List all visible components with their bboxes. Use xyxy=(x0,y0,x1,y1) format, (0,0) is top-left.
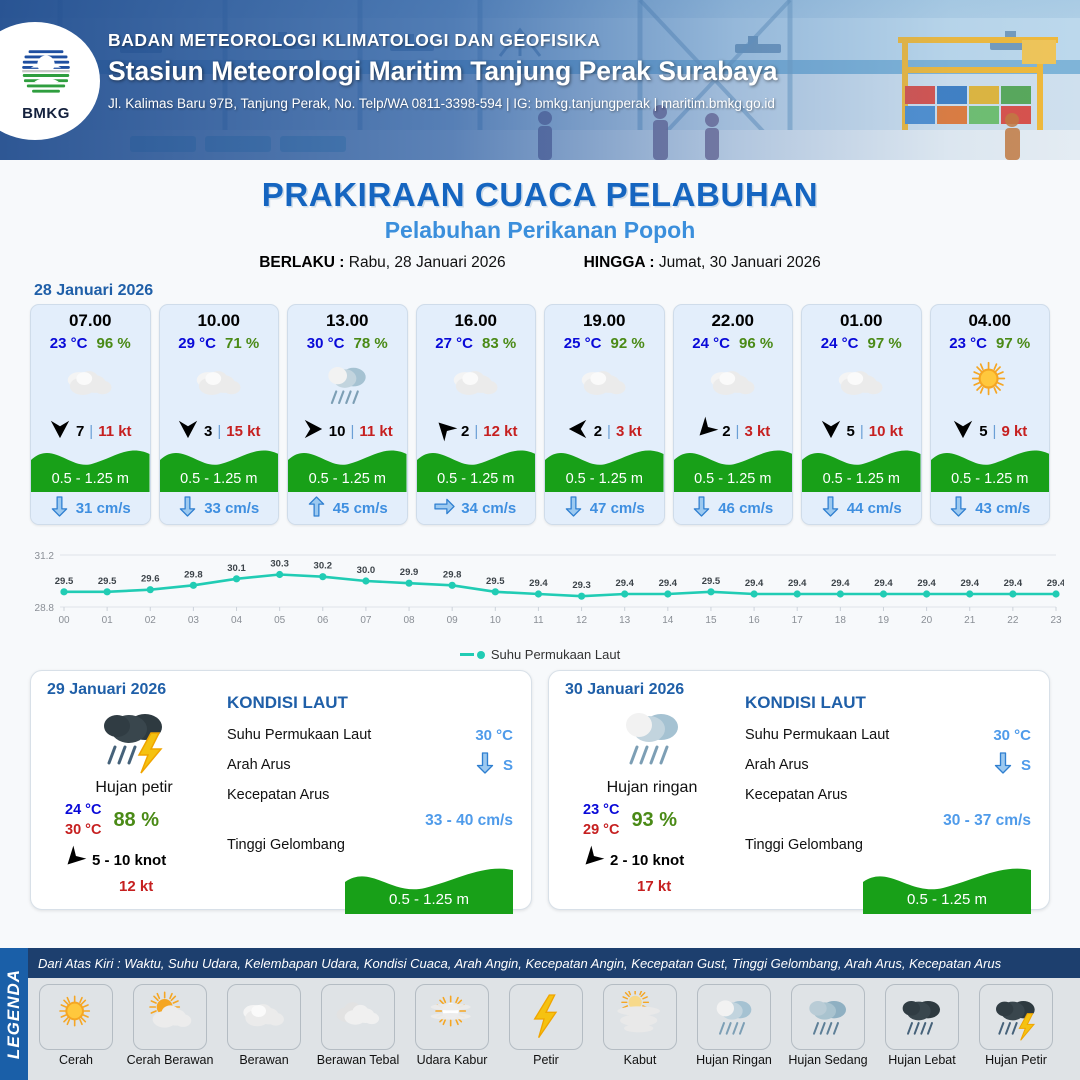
card-current-row: 45 cm/s xyxy=(288,492,407,524)
card-current-row: 34 cm/s xyxy=(417,492,536,524)
legend-item: Berawan xyxy=(220,984,308,1067)
sst-chart-svg: 31.228.829.50029.50129.60229.80330.10430… xyxy=(16,533,1064,645)
svg-text:11: 11 xyxy=(533,615,544,626)
card-wind-speed: 12 kt xyxy=(483,423,517,440)
daily-wave-block: 0.5 - 1.25 m xyxy=(863,862,1031,914)
hingga-value: Jumat, 30 Januari 2026 xyxy=(659,254,821,271)
sea-row-value: 33 - 40 cm/s xyxy=(227,812,513,830)
hingga-label: HINGGA : xyxy=(584,254,655,271)
card-wind-row: 3 | 15 kt xyxy=(160,420,279,442)
card-current-row: 47 cm/s xyxy=(545,492,664,524)
svg-text:29.4: 29.4 xyxy=(917,578,936,589)
berawan-icon xyxy=(417,354,536,416)
page-subtitle: Pelabuhan Perikanan Popoh xyxy=(0,217,1080,244)
card-current-row: 43 cm/s xyxy=(931,492,1050,524)
svg-text:29.4: 29.4 xyxy=(874,578,893,589)
svg-text:03: 03 xyxy=(188,615,200,626)
hourly-card: 19.00 25 °C 92 % 2 | 3 kt 0.5 - 1.25 m xyxy=(544,304,665,525)
card-time: 16.00 xyxy=(417,305,536,331)
card-temp-humidity: 23 °C 96 % xyxy=(31,335,150,352)
card-humidity: 97 % xyxy=(996,335,1030,352)
svg-text:17: 17 xyxy=(792,615,804,626)
hujan-ringan-icon xyxy=(565,701,739,775)
card-wind-row: 2 | 3 kt xyxy=(674,420,793,442)
card-wind-speed: 11 kt xyxy=(98,423,131,440)
legend-item: Udara Kabur xyxy=(408,984,496,1067)
card-wave-height: 0.5 - 1.25 m xyxy=(31,471,150,487)
sst-chart: 31.228.829.50029.50129.60229.80330.10430… xyxy=(16,533,1064,645)
legend-item-label: Udara Kabur xyxy=(408,1053,496,1067)
svg-text:29.4: 29.4 xyxy=(831,578,850,589)
card-wind-separator: | xyxy=(350,423,354,440)
legend-item: Kabut xyxy=(596,984,684,1067)
wind-direction-arrow-icon xyxy=(434,418,456,444)
berawan-icon xyxy=(31,354,150,416)
svg-text:06: 06 xyxy=(317,615,329,626)
sea-row-sst: Suhu Permukaan Laut 30 °C xyxy=(745,720,1031,750)
legend-note: Dari Atas Kiri : Waktu, Suhu Udara, Kele… xyxy=(28,948,1080,978)
card-wind-row: 10 | 11 kt xyxy=(288,420,407,442)
card-wind-speed: 9 kt xyxy=(1001,423,1027,440)
card-temp-humidity: 24 °C 96 % xyxy=(674,335,793,352)
card-wind-row: 7 | 11 kt xyxy=(31,420,150,442)
wind-direction-arrow-icon xyxy=(820,418,842,444)
svg-text:10: 10 xyxy=(490,615,502,626)
wind-direction-arrow-icon xyxy=(302,418,324,444)
card-wind-direction: 10 xyxy=(329,423,346,440)
berawan-icon xyxy=(802,354,921,416)
card-temp-humidity: 23 °C 97 % xyxy=(931,335,1050,352)
current-direction-group: S xyxy=(993,751,1031,779)
daily-wind-row: 2 - 10 knot xyxy=(565,847,739,873)
card-current-speed: 34 cm/s xyxy=(461,500,516,517)
sea-row-label: Suhu Permukaan Laut xyxy=(227,727,371,743)
card-wind-row: 5 | 9 kt xyxy=(931,420,1050,442)
sea-row-wave: Tinggi Gelombang xyxy=(227,830,513,860)
card-current-speed: 33 cm/s xyxy=(204,500,259,517)
sea-row-value: S xyxy=(503,757,513,774)
card-wave-height: 0.5 - 1.25 m xyxy=(931,471,1050,487)
cerah-icon xyxy=(39,984,113,1050)
legend-item-label: Hujan Ringan xyxy=(690,1053,778,1067)
card-current-speed: 45 cm/s xyxy=(333,500,388,517)
wind-direction-arrow-icon xyxy=(695,418,717,444)
svg-text:04: 04 xyxy=(231,615,243,626)
current-direction-arrow-icon xyxy=(821,495,840,522)
legend-item-label: Hujan Sedang xyxy=(784,1053,872,1067)
petir-icon xyxy=(509,984,583,1050)
svg-text:29.4: 29.4 xyxy=(788,578,807,589)
sea-row-value: 0.5 - 1.25 m xyxy=(345,891,513,908)
card-wave-block: 0.5 - 1.25 m xyxy=(160,444,279,492)
sea-row-label: Tinggi Gelombang xyxy=(227,837,345,853)
validity-row: BERLAKU : Rabu, 28 Januari 2026 HINGGA :… xyxy=(0,254,1080,272)
daily-wind-row: 5 - 10 knot xyxy=(47,847,221,873)
sea-row-value: 30 - 37 cm/s xyxy=(745,812,1031,830)
daily-temp-min: 23 °C xyxy=(583,801,619,821)
berawan-icon xyxy=(227,984,301,1050)
card-wave-block: 0.5 - 1.25 m xyxy=(545,444,664,492)
berawan-icon xyxy=(545,354,664,416)
sea-row-label: Kecepatan Arus xyxy=(745,787,847,803)
card-wind-speed: 10 kt xyxy=(869,423,903,440)
daily-gust: 17 kt xyxy=(565,878,739,895)
legend-item: Petir xyxy=(502,984,590,1067)
card-time: 01.00 xyxy=(802,305,921,331)
sea-row-current-speed: Kecepatan Arus xyxy=(227,780,513,810)
svg-text:01: 01 xyxy=(102,615,114,626)
card-time: 07.00 xyxy=(31,305,150,331)
sea-row-label: Tinggi Gelombang xyxy=(745,837,863,853)
legend-item: Hujan Lebat xyxy=(878,984,966,1067)
svg-text:15: 15 xyxy=(705,615,717,626)
daily-temp-column: 24 °C 30 °C xyxy=(65,801,101,840)
card-wind-separator: | xyxy=(993,423,997,440)
hujan-petir-icon xyxy=(47,701,221,775)
card-wind-direction: 7 xyxy=(76,423,84,440)
sea-row-current-direction: Arah Arus S xyxy=(227,750,513,780)
header-text-block: BADAN METEOROLOGI KLIMATOLOGI DAN GEOFIS… xyxy=(108,30,778,111)
card-time: 22.00 xyxy=(674,305,793,331)
legend-side-label: LEGENDA xyxy=(4,969,24,1059)
svg-text:21: 21 xyxy=(964,615,976,626)
card-wind-direction: 3 xyxy=(204,423,212,440)
legend-item: Cerah Berawan xyxy=(126,984,214,1067)
berlaku-group: BERLAKU : Rabu, 28 Januari 2026 xyxy=(259,254,505,272)
card-wind-speed: 3 kt xyxy=(744,423,770,440)
svg-text:02: 02 xyxy=(145,615,157,626)
daily-humidity: 93 % xyxy=(631,809,677,832)
card-wind-separator: | xyxy=(89,423,93,440)
card-current-speed: 46 cm/s xyxy=(718,500,773,517)
sea-row-sst: Suhu Permukaan Laut 30 °C xyxy=(227,720,513,750)
svg-text:29.5: 29.5 xyxy=(486,576,505,587)
sea-condition-title: KONDISI LAUT xyxy=(745,693,1031,713)
card-time: 19.00 xyxy=(545,305,664,331)
daily-wave-block: 0.5 - 1.25 m xyxy=(345,862,513,914)
svg-text:29.5: 29.5 xyxy=(55,576,74,587)
current-direction-arrow-icon xyxy=(178,495,197,522)
card-air-temperature: 23 °C xyxy=(949,335,987,352)
svg-text:00: 00 xyxy=(58,615,70,626)
wind-direction-arrow-icon xyxy=(952,418,974,444)
svg-text:29.4: 29.4 xyxy=(529,578,548,589)
legend-item: Cerah xyxy=(32,984,120,1067)
svg-text:29.4: 29.4 xyxy=(1047,578,1064,589)
card-air-temperature: 30 °C xyxy=(307,335,345,352)
sea-row-value: 0.5 - 1.25 m xyxy=(863,891,1031,908)
card-air-temperature: 24 °C xyxy=(692,335,730,352)
sea-row-label: Suhu Permukaan Laut xyxy=(745,727,889,743)
svg-text:29.8: 29.8 xyxy=(443,569,462,580)
chart-legend-label: Suhu Permukaan Laut xyxy=(491,647,620,662)
card-wave-height: 0.5 - 1.25 m xyxy=(674,471,793,487)
card-time: 10.00 xyxy=(160,305,279,331)
daily-temp-min: 24 °C xyxy=(65,801,101,821)
daily-temp-max: 30 °C xyxy=(65,821,101,841)
card-air-temperature: 27 °C xyxy=(435,335,473,352)
daily-forecast-panels: 29 Januari 2026 Hujan petir 24 °C 30 °C … xyxy=(0,662,1080,910)
sea-condition-title: KONDISI LAUT xyxy=(227,693,513,713)
daily-condition: Hujan ringan xyxy=(565,779,739,797)
card-wave-block: 0.5 - 1.25 m xyxy=(802,444,921,492)
hourly-card: 07.00 23 °C 96 % 7 | 11 kt 0.5 - 1.25 m xyxy=(30,304,151,525)
legend-item-label: Cerah xyxy=(32,1053,120,1067)
svg-text:22: 22 xyxy=(1007,615,1019,626)
legend-item: Hujan Petir xyxy=(972,984,1060,1067)
sea-row-value: 30 °C xyxy=(993,727,1031,744)
hourly-card: 16.00 27 °C 83 % 2 | 12 kt 0.5 - 1.25 m xyxy=(416,304,537,525)
card-current-row: 33 cm/s xyxy=(160,492,279,524)
hourly-date-label: 28 Januari 2026 xyxy=(34,282,1080,300)
legend-dot-icon xyxy=(477,651,485,659)
svg-text:29.5: 29.5 xyxy=(702,576,721,587)
card-wind-separator: | xyxy=(736,423,740,440)
hourly-card: 10.00 29 °C 71 % 3 | 15 kt 0.5 - 1.25 m xyxy=(159,304,280,525)
hourly-card: 13.00 30 °C 78 % 10 | 11 kt 0.5 - 1.25 m xyxy=(287,304,408,525)
svg-text:31.2: 31.2 xyxy=(35,551,55,562)
daily-left-block: 29 Januari 2026 Hujan petir 24 °C 30 °C … xyxy=(31,671,221,909)
card-wind-direction: 2 xyxy=(461,423,469,440)
card-wind-direction: 2 xyxy=(594,423,602,440)
hujan-petir-icon xyxy=(979,984,1053,1050)
daily-condition: Hujan petir xyxy=(47,779,221,797)
svg-text:12: 12 xyxy=(576,615,588,626)
svg-text:13: 13 xyxy=(619,615,631,626)
sea-row-wave: Tinggi Gelombang xyxy=(745,830,1031,860)
svg-text:18: 18 xyxy=(835,615,847,626)
card-wave-block: 0.5 - 1.25 m xyxy=(417,444,536,492)
card-current-row: 31 cm/s xyxy=(31,492,150,524)
current-direction-arrow-icon xyxy=(692,495,711,522)
card-humidity: 96 % xyxy=(96,335,130,352)
card-current-speed: 44 cm/s xyxy=(847,500,902,517)
svg-text:30.3: 30.3 xyxy=(270,559,289,570)
daily-temp-column: 23 °C 29 °C xyxy=(583,801,619,840)
agency-name: BADAN METEOROLOGI KLIMATOLOGI DAN GEOFIS… xyxy=(108,30,778,51)
sea-row-value: S xyxy=(1021,757,1031,774)
svg-text:20: 20 xyxy=(921,615,933,626)
daily-wind-range: 5 - 10 knot xyxy=(92,852,166,869)
svg-text:29.4: 29.4 xyxy=(745,578,764,589)
svg-text:19: 19 xyxy=(878,615,890,626)
svg-text:29.5: 29.5 xyxy=(98,576,117,587)
bmkg-emblem-icon xyxy=(17,41,75,99)
card-wind-separator: | xyxy=(607,423,611,440)
daily-forecast-panel: 29 Januari 2026 Hujan petir 24 °C 30 °C … xyxy=(30,670,532,910)
svg-text:16: 16 xyxy=(749,615,761,626)
svg-text:29.4: 29.4 xyxy=(615,578,634,589)
hujan-ringan-icon xyxy=(288,354,407,416)
berawan-icon xyxy=(160,354,279,416)
card-wave-height: 0.5 - 1.25 m xyxy=(160,471,279,487)
berawan-tebal-icon xyxy=(321,984,395,1050)
card-humidity: 78 % xyxy=(353,335,387,352)
card-humidity: 97 % xyxy=(867,335,901,352)
card-wind-direction: 5 xyxy=(979,423,987,440)
card-wave-block: 0.5 - 1.25 m xyxy=(931,444,1050,492)
legend-item: Hujan Sedang xyxy=(784,984,872,1067)
daily-temp-humidity: 23 °C 29 °C 93 % xyxy=(565,801,739,840)
legend-line-icon xyxy=(460,653,474,656)
daily-date: 29 Januari 2026 xyxy=(47,681,221,699)
card-temp-humidity: 27 °C 83 % xyxy=(417,335,536,352)
card-wind-direction: 2 xyxy=(722,423,730,440)
sea-row-label: Arah Arus xyxy=(745,757,809,773)
hujan-ringan-icon xyxy=(697,984,771,1050)
card-air-temperature: 24 °C xyxy=(821,335,859,352)
svg-text:29.4: 29.4 xyxy=(1004,578,1023,589)
card-wind-row: 5 | 10 kt xyxy=(802,420,921,442)
card-air-temperature: 23 °C xyxy=(50,335,88,352)
svg-text:30.1: 30.1 xyxy=(227,563,246,574)
svg-text:14: 14 xyxy=(662,615,674,626)
legend-item-label: Cerah Berawan xyxy=(126,1053,214,1067)
berlaku-label: BERLAKU : xyxy=(259,254,344,271)
wind-direction-arrow-icon xyxy=(49,418,71,444)
card-wave-block: 0.5 - 1.25 m xyxy=(288,444,407,492)
card-temp-humidity: 25 °C 92 % xyxy=(545,335,664,352)
svg-text:07: 07 xyxy=(360,615,372,626)
daily-gust: 12 kt xyxy=(47,878,221,895)
legend-bar: LEGENDA Dari Atas Kiri : Waktu, Suhu Uda… xyxy=(0,948,1080,1080)
sea-row-label: Kecepatan Arus xyxy=(227,787,329,803)
card-air-temperature: 29 °C xyxy=(178,335,216,352)
wind-direction-arrow-icon xyxy=(63,847,85,873)
card-wave-height: 0.5 - 1.25 m xyxy=(802,471,921,487)
sea-row-value: 30 °C xyxy=(475,727,513,744)
card-current-speed: 47 cm/s xyxy=(590,500,645,517)
legend-icon-list: Cerah Cerah Berawan Berawan xyxy=(28,978,1080,1067)
daily-forecast-panel: 30 Januari 2026 Hujan ringan 23 °C 29 °C… xyxy=(548,670,1050,910)
card-wave-block: 0.5 - 1.25 m xyxy=(31,444,150,492)
card-wind-speed: 15 kt xyxy=(226,423,260,440)
current-direction-arrow-icon xyxy=(993,751,1013,779)
card-wave-height: 0.5 - 1.25 m xyxy=(417,471,536,487)
cerah-berawan-icon xyxy=(133,984,207,1050)
wind-direction-arrow-icon xyxy=(567,418,589,444)
card-humidity: 92 % xyxy=(610,335,644,352)
svg-text:05: 05 xyxy=(274,615,286,626)
current-direction-arrow-icon xyxy=(50,495,69,522)
card-humidity: 96 % xyxy=(739,335,773,352)
udara-kabur-icon xyxy=(415,984,489,1050)
daily-sea-block: KONDISI LAUT Suhu Permukaan Laut 30 °C A… xyxy=(221,671,531,909)
legend-item-label: Kabut xyxy=(596,1053,684,1067)
card-wave-block: 0.5 - 1.25 m xyxy=(674,444,793,492)
card-current-row: 44 cm/s xyxy=(802,492,921,524)
contact-info: Jl. Kalimas Baru 97B, Tanjung Perak, No.… xyxy=(108,96,778,111)
hourly-card: 01.00 24 °C 97 % 5 | 10 kt 0.5 - 1.25 m xyxy=(801,304,922,525)
svg-text:30.0: 30.0 xyxy=(357,565,376,576)
svg-text:29.4: 29.4 xyxy=(960,578,979,589)
hourly-card: 22.00 24 °C 96 % 2 | 3 kt 0.5 - 1.25 m xyxy=(673,304,794,525)
svg-text:29.9: 29.9 xyxy=(400,567,419,578)
daily-temp-max: 29 °C xyxy=(583,821,619,841)
card-air-temperature: 25 °C xyxy=(564,335,602,352)
svg-text:23: 23 xyxy=(1050,615,1062,626)
legend-item-label: Berawan xyxy=(220,1053,308,1067)
card-temp-humidity: 30 °C 78 % xyxy=(288,335,407,352)
kabut-icon xyxy=(603,984,677,1050)
current-direction-arrow-icon xyxy=(307,495,326,522)
hourly-forecast-cards: 07.00 23 °C 96 % 7 | 11 kt 0.5 - 1.25 m xyxy=(0,304,1080,525)
wind-direction-arrow-icon xyxy=(177,418,199,444)
current-direction-arrow-icon xyxy=(435,495,454,522)
card-wind-separator: | xyxy=(860,423,864,440)
card-humidity: 83 % xyxy=(482,335,516,352)
berlaku-value: Rabu, 28 Januari 2026 xyxy=(349,254,506,271)
daily-date: 30 Januari 2026 xyxy=(565,681,739,699)
wind-direction-arrow-icon xyxy=(581,847,603,873)
hourly-card: 04.00 23 °C 97 % 5 | 9 kt xyxy=(930,304,1051,525)
legend-item-label: Hujan Petir xyxy=(972,1053,1060,1067)
legend-side-label-wrap: LEGENDA xyxy=(0,948,28,1080)
svg-text:28.8: 28.8 xyxy=(35,603,55,614)
cerah-icon xyxy=(931,354,1050,416)
card-wind-row: 2 | 12 kt xyxy=(417,420,536,442)
daily-wind-range: 2 - 10 knot xyxy=(610,852,684,869)
card-wind-separator: | xyxy=(474,423,478,440)
legend-item-label: Berawan Tebal xyxy=(314,1053,402,1067)
card-wind-separator: | xyxy=(217,423,221,440)
legend-item-label: Hujan Lebat xyxy=(878,1053,966,1067)
current-direction-arrow-icon xyxy=(475,751,495,779)
daily-left-block: 30 Januari 2026 Hujan ringan 23 °C 29 °C… xyxy=(549,671,739,909)
hingga-group: HINGGA : Jumat, 30 Januari 2026 xyxy=(584,254,821,272)
legend-item-label: Petir xyxy=(502,1053,590,1067)
card-wave-height: 0.5 - 1.25 m xyxy=(288,471,407,487)
svg-text:29.4: 29.4 xyxy=(659,578,678,589)
berawan-icon xyxy=(674,354,793,416)
page-header: BMKG BADAN METEOROLOGI KLIMATOLOGI DAN G… xyxy=(0,0,1080,160)
card-humidity: 71 % xyxy=(225,335,259,352)
card-current-speed: 43 cm/s xyxy=(975,500,1030,517)
legend-item: Berawan Tebal xyxy=(314,984,402,1067)
svg-text:29.6: 29.6 xyxy=(141,574,160,585)
card-temp-humidity: 29 °C 71 % xyxy=(160,335,279,352)
hujan-lebat-icon xyxy=(885,984,959,1050)
sea-row-current-speed: Kecepatan Arus xyxy=(745,780,1031,810)
card-temp-humidity: 24 °C 97 % xyxy=(802,335,921,352)
svg-text:30.2: 30.2 xyxy=(314,561,333,572)
sea-row-label: Arah Arus xyxy=(227,757,291,773)
svg-text:08: 08 xyxy=(403,615,415,626)
current-direction-group: S xyxy=(475,751,513,779)
card-current-row: 46 cm/s xyxy=(674,492,793,524)
svg-text:29.8: 29.8 xyxy=(184,569,203,580)
card-wave-height: 0.5 - 1.25 m xyxy=(545,471,664,487)
bmkg-logo-text: BMKG xyxy=(17,105,75,122)
page-title: PRAKIRAAN CUACA PELABUHAN xyxy=(0,176,1080,214)
card-time: 13.00 xyxy=(288,305,407,331)
current-direction-arrow-icon xyxy=(949,495,968,522)
daily-humidity: 88 % xyxy=(113,809,159,832)
card-current-speed: 31 cm/s xyxy=(76,500,131,517)
card-wind-speed: 3 kt xyxy=(616,423,642,440)
station-name: Stasiun Meteorologi Maritim Tanjung Pera… xyxy=(108,56,778,87)
card-wind-row: 2 | 3 kt xyxy=(545,420,664,442)
svg-text:09: 09 xyxy=(447,615,459,626)
daily-sea-block: KONDISI LAUT Suhu Permukaan Laut 30 °C A… xyxy=(739,671,1049,909)
sea-row-current-direction: Arah Arus S xyxy=(745,750,1031,780)
card-wind-speed: 11 kt xyxy=(359,423,392,440)
card-time: 04.00 xyxy=(931,305,1050,331)
hujan-sedang-icon xyxy=(791,984,865,1050)
legend-item: Hujan Ringan xyxy=(690,984,778,1067)
current-direction-arrow-icon xyxy=(564,495,583,522)
daily-temp-humidity: 24 °C 30 °C 88 % xyxy=(47,801,221,840)
